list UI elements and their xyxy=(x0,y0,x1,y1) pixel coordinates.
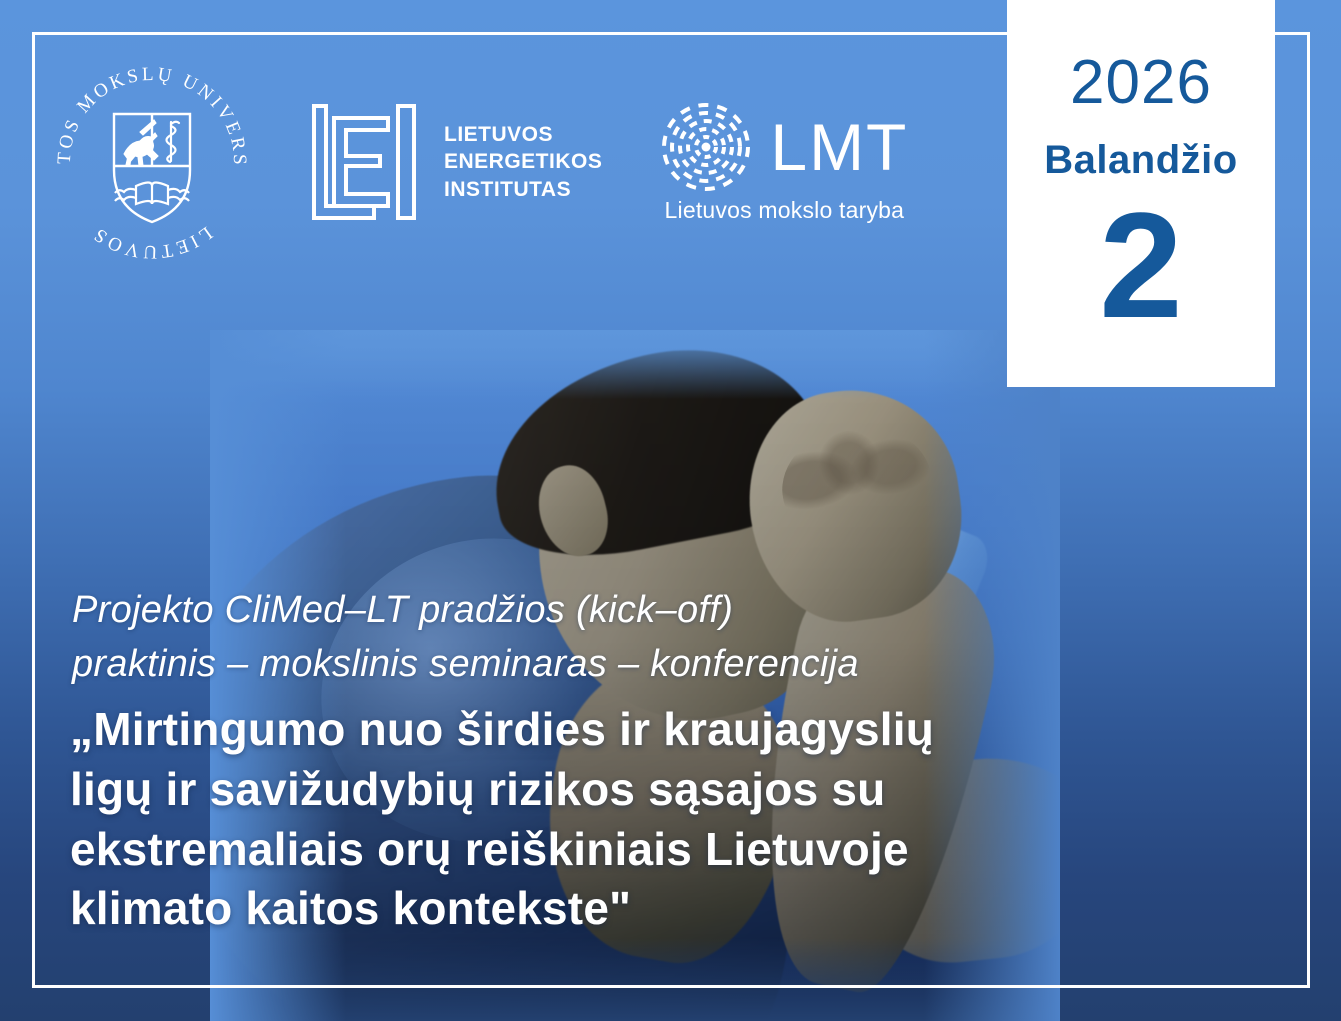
subtitle-line-2: praktinis – mokslinis seminaras – konfer… xyxy=(72,638,1202,692)
title-line-3: ekstremaliais orų reiškiniais Lietuvoje xyxy=(70,820,1270,880)
title-line-1: „Mirtingumo nuo širdies ir kraujagyslių xyxy=(70,700,1270,760)
lei-logo-text: LIETUVOS ENERGETIKOS INSTITUTAS xyxy=(444,121,602,203)
seal-ring-text-bottom: LIETUVOS xyxy=(88,222,216,262)
event-poster: SVEIKATOS MOKSLŲ UNIVERSITETAS LIETUVOS xyxy=(0,0,1341,1021)
page-title: „Mirtingumo nuo širdies ir kraujagyslių … xyxy=(70,700,1270,939)
svg-text:LIETUVOS: LIETUVOS xyxy=(88,222,216,262)
lsmu-seal: SVEIKATOS MOKSLŲ UNIVERSITETAS LIETUVOS xyxy=(52,62,252,262)
event-subtitle: Projekto CliMed–LT pradžios (kick–off) p… xyxy=(72,584,1202,692)
lmt-wordmark: LMT xyxy=(770,114,908,180)
subtitle-line-1: Projekto CliMed–LT pradžios (kick–off) xyxy=(72,584,1202,638)
title-line-2: ligų ir savižudybių rizikos sąsajos su xyxy=(70,760,1270,820)
lei-logo: LIETUVOS ENERGETIKOS INSTITUTAS xyxy=(310,102,602,222)
date-year: 2026 xyxy=(1070,52,1212,114)
lmt-subtitle: Lietuvos mokslo taryba xyxy=(665,197,905,224)
lmt-mark-icon xyxy=(660,101,752,193)
lmt-logo: LMT Lietuvos mokslo taryba xyxy=(660,101,908,224)
date-day: 2 xyxy=(1099,190,1182,340)
lei-mark-icon xyxy=(310,102,418,222)
date-month: Balandžio xyxy=(1044,140,1237,180)
partner-logos: SVEIKATOS MOKSLŲ UNIVERSITETAS LIETUVOS xyxy=(52,62,908,262)
date-card: 2026 Balandžio 2 xyxy=(1007,0,1275,387)
title-line-4: klimato kaitos kontekste" xyxy=(70,879,1270,939)
